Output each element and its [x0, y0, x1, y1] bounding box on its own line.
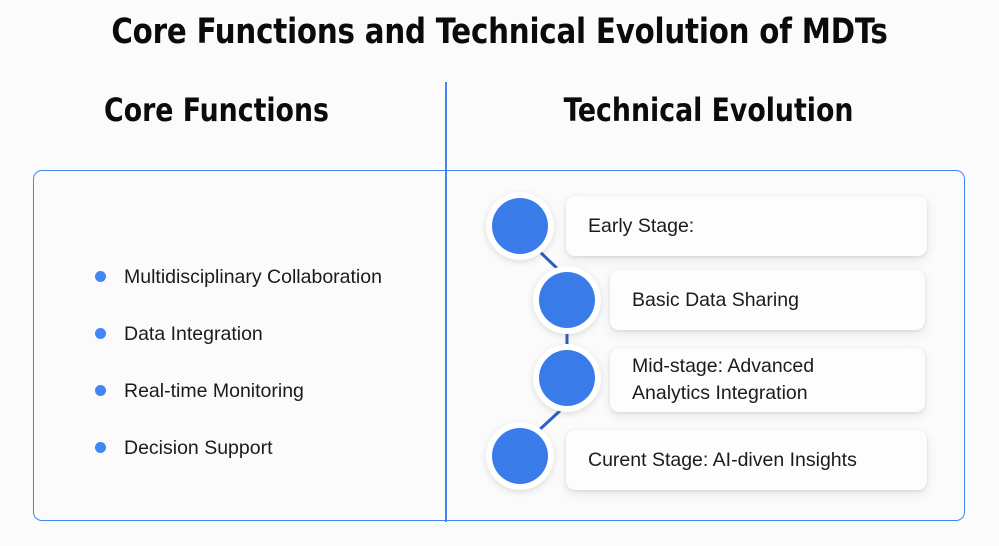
timeline-card-label: Mid-stage: Advanced Analytics Integratio…: [632, 353, 814, 407]
technical-evolution-heading: Technical Evolution: [470, 90, 947, 130]
list-item-label: Data Integration: [124, 321, 263, 347]
page-title: Core Functions and Technical Evolution o…: [35, 10, 964, 54]
list-item[interactable]: Data Integration: [95, 305, 440, 362]
timeline-card[interactable]: Basic Data Sharing: [610, 270, 925, 330]
bullet-dot-icon: [95, 328, 106, 339]
list-item[interactable]: Real-time Monitoring: [95, 362, 440, 419]
technical-evolution-timeline: Early Stage: Basic Data Sharing Mid-stag…: [445, 170, 965, 521]
timeline-node-4[interactable]: [486, 422, 554, 490]
timeline-card[interactable]: Curent Stage: AI-diven Insights: [566, 430, 927, 490]
list-item-label: Real-time Monitoring: [124, 378, 304, 404]
timeline-node-3[interactable]: [533, 344, 601, 412]
timeline-card-label: Curent Stage: AI-diven Insights: [588, 447, 857, 474]
core-functions-heading: Core Functions: [46, 90, 387, 130]
list-item[interactable]: Decision Support: [95, 419, 440, 476]
timeline-card-label: Basic Data Sharing: [632, 287, 799, 314]
bullet-dot-icon: [95, 271, 106, 282]
timeline-card[interactable]: Mid-stage: Advanced Analytics Integratio…: [610, 348, 925, 412]
slide-root: Core Functions and Technical Evolution o…: [0, 0, 999, 546]
timeline-card-label: Early Stage:: [588, 213, 694, 240]
timeline-card-line-1: Mid-stage: Advanced: [632, 355, 814, 377]
timeline-node-2[interactable]: [533, 266, 601, 334]
bullet-dot-icon: [95, 442, 106, 453]
timeline-card[interactable]: Early Stage:: [566, 196, 927, 256]
list-item[interactable]: Multidisciplinary Collaboration: [95, 248, 440, 305]
list-item-label: Multidisciplinary Collaboration: [124, 264, 382, 290]
bullet-dot-icon: [95, 385, 106, 396]
timeline-card-line-2: Analytics Integration: [632, 382, 808, 404]
timeline-node-1[interactable]: [486, 192, 554, 260]
list-item-label: Decision Support: [124, 435, 273, 461]
core-functions-list: Multidisciplinary Collaboration Data Int…: [95, 248, 440, 476]
